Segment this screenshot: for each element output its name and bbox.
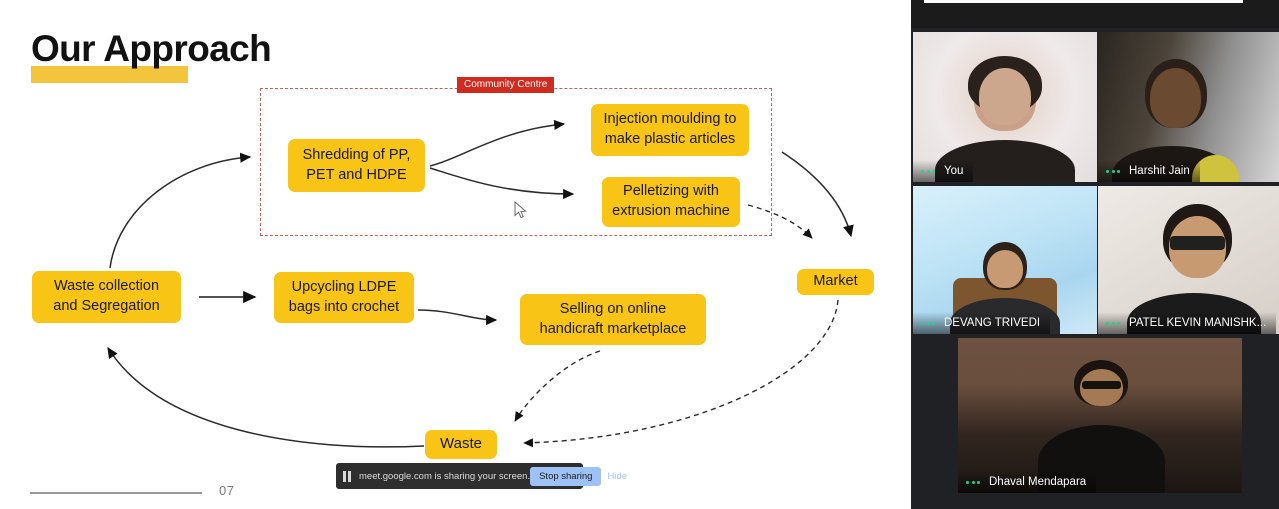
meet-top-strip (924, 0, 1243, 3)
node-shredding-line2: PET and HDPE (303, 166, 411, 186)
participant-name-row: DEVANG TRIVEDI (913, 312, 1050, 334)
participant-name-row: PATEL KEVIN MANISHK... (1098, 312, 1276, 334)
participant-tile-dhaval-mendapara[interactable]: Dhaval Mendapara (958, 338, 1242, 493)
node-market[interactable]: Market (797, 269, 874, 295)
participant-tile-harshit-jain[interactable]: Harshit Jain (1098, 32, 1279, 182)
node-shredding[interactable]: Shredding of PP, PET and HDPE (288, 139, 425, 192)
participant-name: Harshit Jain (1129, 165, 1190, 177)
participant-tile-you[interactable]: You (913, 32, 1097, 182)
participant-tile-devang-trivedi[interactable]: DEVANG TRIVEDI (913, 186, 1097, 334)
audio-indicator-icon (921, 322, 935, 325)
participant-name: Dhaval Mendapara (989, 476, 1086, 488)
video-feed (958, 338, 1242, 493)
audio-indicator-icon (921, 170, 935, 173)
node-selling-online[interactable]: Selling on online handicraft marketplace (520, 294, 706, 345)
participant-name-row: Dhaval Mendapara (958, 471, 1096, 493)
node-pelletizing-line2: extrusion machine (612, 202, 730, 222)
node-injection-moulding[interactable]: Injection moulding to make plastic artic… (591, 104, 749, 156)
participant-name: You (944, 165, 963, 177)
audio-indicator-icon (1106, 322, 1120, 325)
footer-rule (30, 492, 202, 494)
node-upcycling-line1: Upcycling LDPE (289, 278, 399, 298)
node-waste-collection[interactable]: Waste collection and Segregation (32, 271, 181, 323)
node-waste[interactable]: Waste (425, 430, 497, 459)
share-status-text: meet.google.com is sharing your screen. (359, 471, 530, 482)
audio-indicator-icon (966, 481, 980, 484)
audio-indicator-icon (1106, 170, 1120, 173)
node-shredding-line1: Shredding of PP, (303, 146, 411, 166)
screen-share-bar: meet.google.com is sharing your screen. … (336, 463, 583, 489)
hide-button[interactable]: Hide (607, 471, 627, 482)
node-waste-label: Waste (440, 434, 482, 454)
participant-tile-patel-kevin[interactable]: PATEL KEVIN MANISHK... (1098, 186, 1279, 334)
participant-name-row: You (913, 160, 973, 182)
node-market-label: Market (813, 272, 857, 292)
presentation-slide: Our Approach Community Centre (0, 0, 911, 509)
community-centre-label: Community Centre (457, 77, 554, 93)
node-waste-collection-line2: and Segregation (53, 297, 159, 317)
participant-name: PATEL KEVIN MANISHK... (1129, 317, 1266, 329)
participant-name: DEVANG TRIVEDI (944, 317, 1040, 329)
stop-sharing-button[interactable]: Stop sharing (530, 467, 601, 486)
screen-root: Our Approach Community Centre (0, 0, 1279, 509)
node-injection-line1: Injection moulding to (604, 110, 737, 130)
mouse-cursor-icon (514, 201, 528, 219)
node-selling-line2: handicraft marketplace (540, 320, 687, 340)
page-title: Our Approach (31, 30, 271, 67)
node-selling-line1: Selling on online (540, 300, 687, 320)
page-number: 07 (219, 483, 234, 498)
node-waste-collection-line1: Waste collection (53, 277, 159, 297)
node-pelletizing[interactable]: Pelletizing with extrusion machine (602, 177, 740, 227)
pause-icon[interactable] (343, 471, 352, 482)
node-upcycling-ldpe[interactable]: Upcycling LDPE bags into crochet (274, 272, 414, 323)
node-injection-line2: make plastic articles (604, 130, 737, 150)
slide-title-block: Our Approach (31, 30, 271, 67)
meet-top-bar (911, 0, 1279, 28)
participant-name-row: Harshit Jain (1098, 160, 1200, 182)
node-pelletizing-line1: Pelletizing with (612, 182, 730, 202)
node-upcycling-line2: bags into crochet (289, 298, 399, 318)
